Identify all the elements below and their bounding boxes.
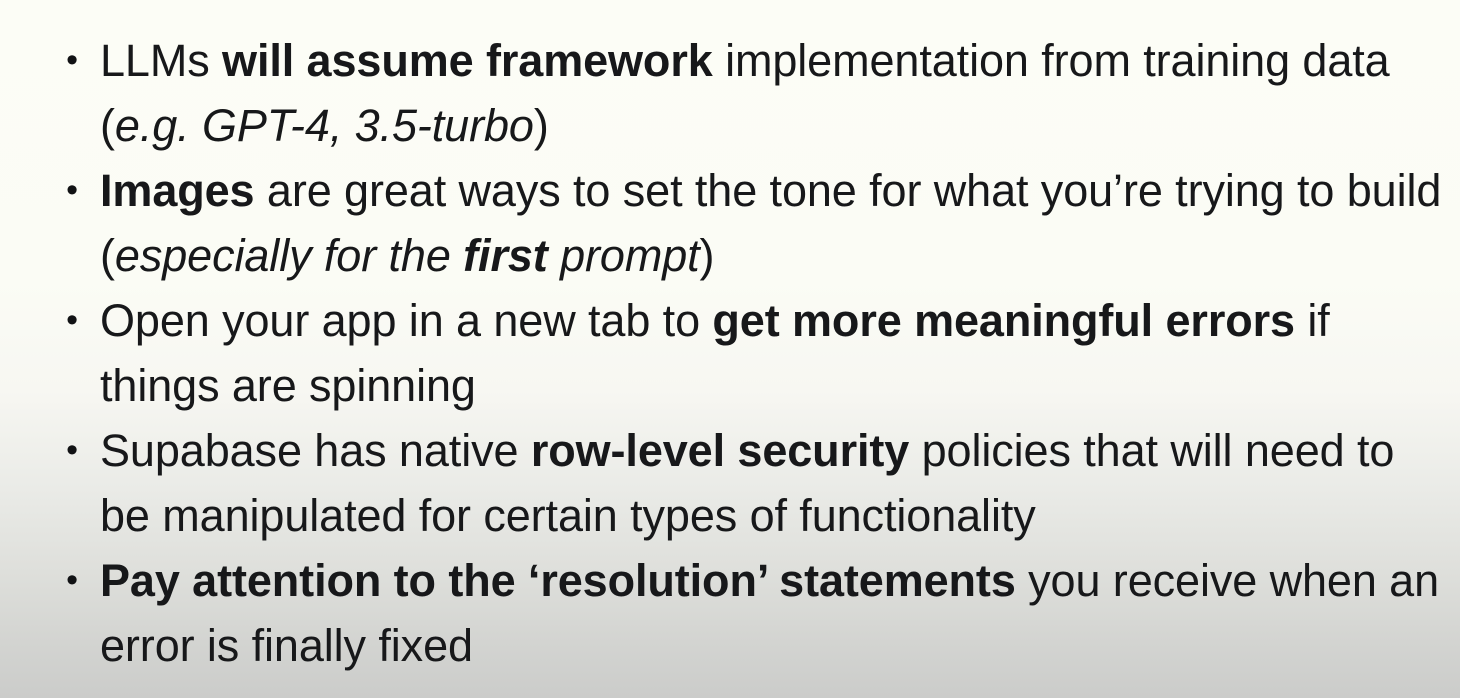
- text-run-regular: ): [700, 230, 715, 281]
- text-run-bold-italic: first: [463, 230, 548, 281]
- text-run-bold: get more meaningful errors: [712, 295, 1295, 346]
- text-run-regular: Supabase has native: [100, 425, 531, 476]
- bullet-point-icon: •: [65, 418, 79, 483]
- bullet-text: Pay attention to the ‘resolution’ statem…: [100, 548, 1442, 678]
- bullet-item-pay-attention-resolution-statements: •Pay attention to the ‘resolution’ state…: [62, 548, 1442, 678]
- bullet-item-llms-assume-framework: •LLMs will assume framework implementati…: [62, 28, 1442, 158]
- bullet-point-icon: •: [65, 288, 79, 353]
- bullet-point-icon: •: [65, 28, 79, 93]
- bullet-list: •LLMs will assume framework implementati…: [62, 28, 1442, 678]
- text-run-italic: e.g. GPT-4, 3.5-turbo: [115, 100, 534, 151]
- bullet-item-images-set-the-tone: •Images are great ways to set the tone f…: [62, 158, 1442, 288]
- bullet-text: Images are great ways to set the tone fo…: [100, 158, 1442, 288]
- bullet-item-open-app-new-tab: •Open your app in a new tab to get more …: [62, 288, 1442, 418]
- text-run-bold: row-level security: [531, 425, 909, 476]
- text-run-bold: Images: [100, 165, 254, 216]
- text-run-regular: Open your app in a new tab to: [100, 295, 712, 346]
- bullet-point-icon: •: [65, 548, 79, 613]
- bullet-point-icon: •: [65, 158, 79, 223]
- bullet-item-supabase-row-level-security: •Supabase has native row-level security …: [62, 418, 1442, 548]
- bullet-text: LLMs will assume framework implementatio…: [100, 28, 1442, 158]
- slide-canvas: •LLMs will assume framework implementati…: [0, 0, 1460, 698]
- text-run-italic: especially for the: [115, 230, 463, 281]
- text-run-regular: LLMs: [100, 35, 222, 86]
- text-run-bold: will assume framework: [222, 35, 713, 86]
- bullet-text: Open your app in a new tab to get more m…: [100, 288, 1442, 418]
- text-run-italic: prompt: [548, 230, 700, 281]
- text-run-bold: Pay attention to the ‘resolution’ statem…: [100, 555, 1016, 606]
- text-run-regular: ): [534, 100, 549, 151]
- bullet-text: Supabase has native row-level security p…: [100, 418, 1442, 548]
